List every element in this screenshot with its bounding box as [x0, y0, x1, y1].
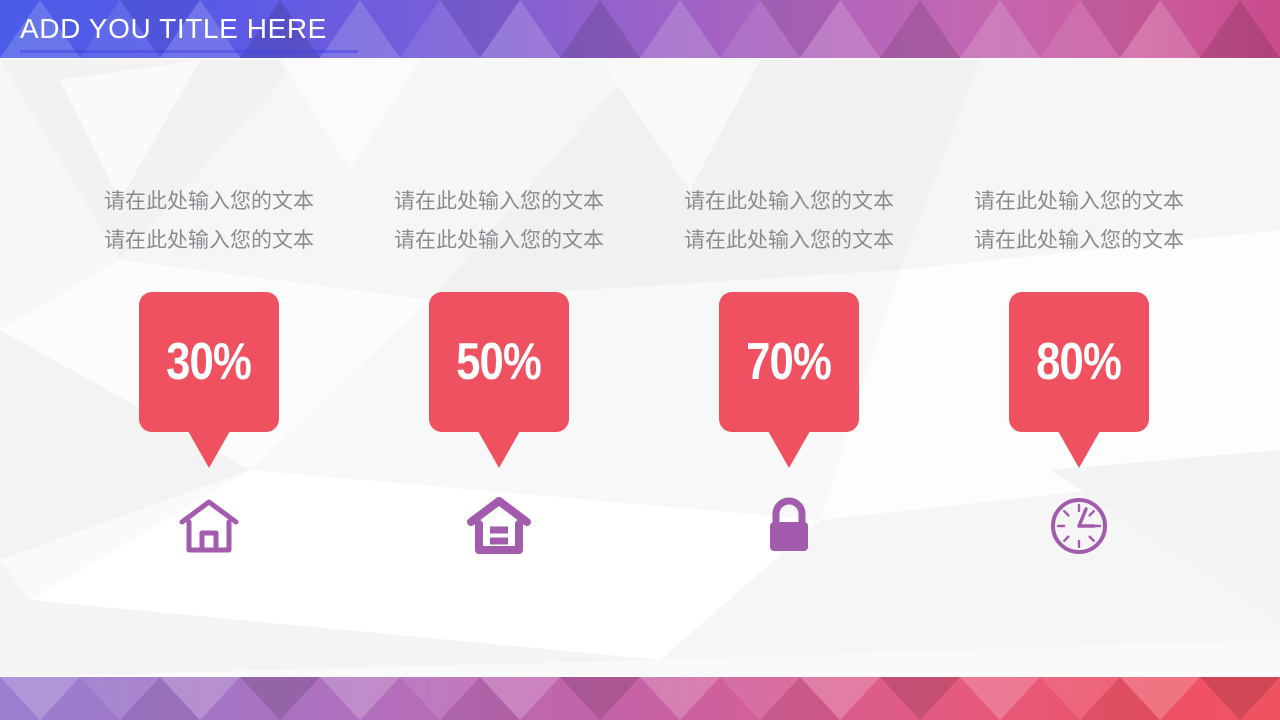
percent-bubble: 70%	[719, 292, 859, 467]
footer-triangle-pattern	[0, 677, 1280, 720]
percent-bubble-tail	[1058, 431, 1100, 468]
stat-column: 请在此处输入您的文本 请在此处输入您的文本 80%	[934, 182, 1224, 602]
percent-bubble-tail	[478, 431, 520, 468]
percent-value: 30%	[167, 336, 252, 388]
percent-value: 70%	[747, 336, 832, 388]
stat-column: 请在此处输入您的文本 请在此处输入您的文本 30%	[64, 182, 354, 602]
column-text-line-2: 请在此处输入您的文本	[644, 221, 934, 260]
percent-bubble-tail	[188, 431, 230, 468]
percent-value: 80%	[1037, 336, 1122, 388]
percent-bubble-body: 80%	[1009, 292, 1149, 432]
percent-bubble-body: 70%	[719, 292, 859, 432]
stat-column: 请在此处输入您的文本 请在此处输入您的文本 50%	[354, 182, 644, 602]
clock-icon	[1044, 495, 1114, 557]
column-text-line-2: 请在此处输入您的文本	[64, 221, 354, 260]
column-text-line-1: 请在此处输入您的文本	[644, 182, 934, 221]
stats-columns: 请在此处输入您的文本 请在此处输入您的文本 30% 请在此处输入您	[64, 182, 1224, 602]
page-title: ADD YOU TITLE HERE	[20, 13, 327, 45]
lock-icon	[754, 495, 824, 557]
percent-bubble-tail	[768, 431, 810, 468]
house-lines-icon	[464, 495, 534, 557]
slide-canvas: ADD YOU TITLE HERE 请在此处输入您的文本 请在此处输入您的文本…	[0, 0, 1280, 720]
stat-column: 请在此处输入您的文本 请在此处输入您的文本 70%	[644, 182, 934, 602]
title-underline	[20, 50, 358, 53]
column-text-line-2: 请在此处输入您的文本	[354, 221, 644, 260]
percent-bubble: 30%	[139, 292, 279, 467]
percent-bubble-body: 50%	[429, 292, 569, 432]
column-text-line-1: 请在此处输入您的文本	[354, 182, 644, 221]
column-text-line-1: 请在此处输入您的文本	[934, 182, 1224, 221]
footer-band	[0, 677, 1280, 720]
percent-value: 50%	[457, 336, 542, 388]
house-outline-icon	[174, 495, 244, 557]
percent-bubble-body: 30%	[139, 292, 279, 432]
percent-bubble: 80%	[1009, 292, 1149, 467]
column-text-line-1: 请在此处输入您的文本	[64, 182, 354, 221]
percent-bubble: 50%	[429, 292, 569, 467]
column-text-line-2: 请在此处输入您的文本	[934, 221, 1224, 260]
